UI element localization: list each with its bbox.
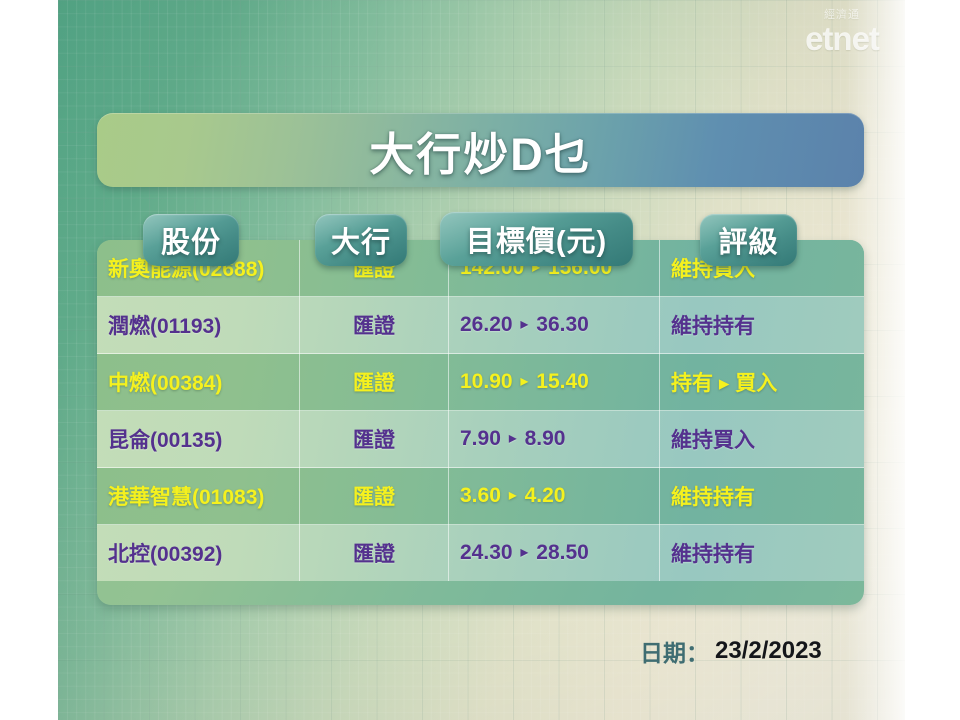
table-row: 北控(00392)匯證24.30 ▸ 28.50維持持有: [97, 525, 864, 582]
cell-target-price: 7.90 ▸ 8.90: [449, 411, 660, 468]
cell-stock: 潤燃(01193): [97, 297, 300, 354]
cell-target-price: 3.60 ▸ 4.20: [449, 468, 660, 525]
column-header-target-price: 目標價(元): [440, 212, 633, 266]
cell-rating: 維持持有: [660, 468, 865, 525]
date-value: 23/2/2023: [715, 637, 822, 665]
column-header-rating: 評級: [700, 214, 797, 266]
price-from: 3.60: [460, 484, 501, 507]
cell-target-price: 24.30 ▸ 28.50: [449, 525, 660, 582]
column-header-target-price-label: 目標價(元): [466, 218, 607, 260]
cell-target-price: 26.20 ▸ 36.30: [449, 297, 660, 354]
price-arrow-icon: ▸: [507, 430, 519, 447]
price-arrow-icon: ▸: [518, 544, 530, 561]
price-from: 24.30: [460, 541, 513, 564]
table-row: 港華智慧(01083)匯證3.60 ▸ 4.20維持持有: [97, 468, 864, 525]
price-arrow-icon: ▸: [518, 316, 530, 333]
column-header-stock: 股份: [143, 214, 239, 266]
stock-table-container: 新奧能源(02688)匯證142.00 ▸ 156.00維持買入潤燃(01193…: [97, 240, 864, 605]
cell-broker: 匯證: [300, 354, 449, 411]
cell-target-price: 10.90 ▸ 15.40: [449, 354, 660, 411]
cell-rating: 維持持有: [660, 297, 865, 354]
column-header-stock-label: 股份: [161, 219, 221, 261]
table-row: 潤燃(01193)匯證26.20 ▸ 36.30維持持有: [97, 297, 864, 354]
stock-table-body: 新奧能源(02688)匯證142.00 ▸ 156.00維持買入潤燃(01193…: [97, 240, 864, 581]
price-to: 15.40: [536, 370, 589, 393]
cell-rating: 維持持有: [660, 525, 865, 582]
column-header-broker-label: 大行: [331, 219, 391, 261]
cell-stock: 北控(00392): [97, 525, 300, 582]
price-from: 7.90: [460, 427, 501, 450]
price-to: 36.30: [536, 313, 589, 336]
price-to: 4.20: [525, 484, 566, 507]
price-arrow-icon: ▸: [518, 373, 530, 390]
cell-broker: 匯證: [300, 297, 449, 354]
title-banner: 大行炒D乜: [97, 113, 864, 187]
table-row: 昆侖(00135)匯證7.90 ▸ 8.90維持買入: [97, 411, 864, 468]
price-from: 26.20: [460, 313, 513, 336]
column-header-rating-label: 評級: [718, 219, 778, 261]
cell-broker: 匯證: [300, 525, 449, 582]
cell-stock: 中燃(00384): [97, 354, 300, 411]
price-from: 10.90: [460, 370, 513, 393]
cell-stock: 港華智慧(01083): [97, 468, 300, 525]
price-to: 8.90: [525, 427, 566, 450]
cell-stock: 昆侖(00135): [97, 411, 300, 468]
price-to: 28.50: [536, 541, 589, 564]
cell-rating: 持有 ▸ 買入: [660, 354, 865, 411]
slide-canvas: 經濟通 etnet 大行炒D乜 股份 大行 目標價(元) 評級 新奧能源(026…: [0, 0, 960, 720]
table-row: 中燃(00384)匯證10.90 ▸ 15.40持有 ▸ 買入: [97, 354, 864, 411]
stock-table: 新奧能源(02688)匯證142.00 ▸ 156.00維持買入潤燃(01193…: [97, 240, 864, 581]
date-row: 日期： 23/2/2023: [640, 636, 822, 666]
cell-rating: 維持買入: [660, 411, 865, 468]
cell-broker: 匯證: [300, 411, 449, 468]
cell-broker: 匯證: [300, 468, 449, 525]
price-arrow-icon: ▸: [507, 487, 519, 504]
date-label: 日期：: [640, 634, 709, 668]
page-title: 大行炒D乜: [369, 118, 592, 183]
column-header-broker: 大行: [315, 214, 407, 266]
